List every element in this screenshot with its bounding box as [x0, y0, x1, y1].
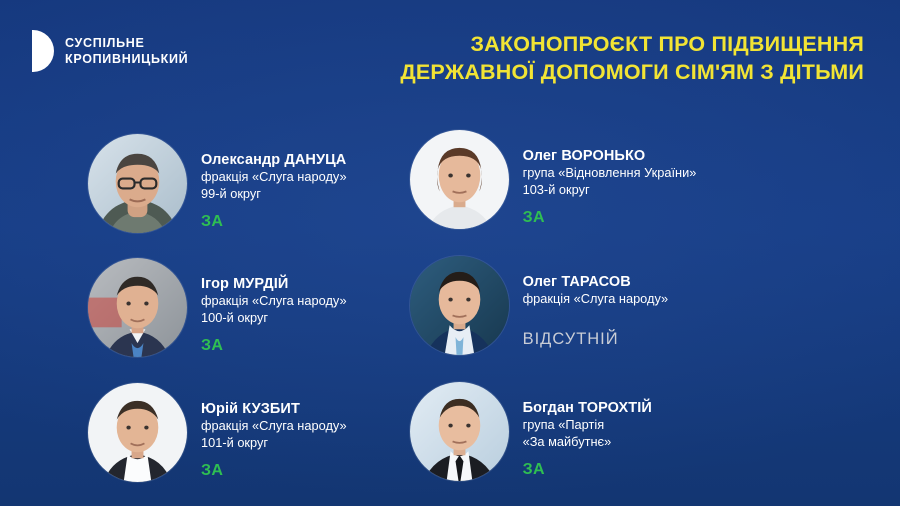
deputy-faction: група «Відновлення України»	[523, 165, 697, 182]
vote-status: ЗА	[523, 461, 652, 479]
deputy-district: 99-й округ	[201, 186, 347, 203]
vote-status: ЗА	[201, 213, 347, 231]
deputy-name: Ігор МУРДІЙ	[201, 276, 347, 293]
brand-logo: СУСПІЛЬНЕ КРОПИВНИЦЬКИЙ	[32, 30, 188, 72]
deputy-info: Богдан ТОРОХТІЙ група «Партія «За майбут…	[509, 382, 652, 479]
half-disc-logo-icon	[32, 30, 54, 72]
deputy-faction: група «Партія	[523, 417, 652, 434]
vote-status: ЗА	[201, 337, 347, 355]
avatar	[88, 134, 187, 233]
title-line-1: ЗАКОНОПРОЄКТ ПРО ПІДВИЩЕННЯ	[324, 31, 864, 59]
deputy-card: Олександр ДАНУЦА фракція «Слуга народу» …	[88, 134, 347, 248]
avatar	[88, 258, 187, 357]
deputy-card: Богдан ТОРОХТІЙ група «Партія «За майбут…	[410, 382, 900, 496]
deputy-district: 103-й округ	[523, 182, 697, 199]
deputy-name: Юрій КУЗБИТ	[201, 401, 347, 418]
brand-line-2: КРОПИВНИЦЬКИЙ	[65, 51, 188, 67]
page-title: ЗАКОНОПРОЄКТ ПРО ПІДВИЩЕННЯ ДЕРЖАВНОЇ ДО…	[324, 31, 864, 86]
vote-status: ВІДСУТНІЙ	[523, 330, 669, 349]
avatar	[410, 130, 509, 229]
avatar	[410, 382, 509, 481]
deputy-faction: фракція «Слуга народу»	[201, 169, 347, 186]
deputy-name: Олег ТАРАСОВ	[523, 274, 669, 291]
deputy-card: Олег ВОРОНЬКО група «Відновлення України…	[410, 130, 900, 244]
deputy-name: Олег ВОРОНЬКО	[523, 148, 697, 165]
deputy-info: Олег ТАРАСОВ фракція «Слуга народу» ВІДС…	[509, 256, 669, 349]
deputy-faction: фракція «Слуга народу»	[201, 418, 347, 435]
deputy-card: Юрій КУЗБИТ фракція «Слуга народу» 101-й…	[88, 383, 347, 497]
deputy-faction: фракція «Слуга народу»	[201, 293, 347, 310]
deputies-grid: Олександр ДАНУЦА фракція «Слуга народу» …	[0, 122, 900, 497]
deputy-name: Олександр ДАНУЦА	[201, 152, 347, 169]
brand-line-1: СУСПІЛЬНЕ	[65, 35, 188, 51]
deputy-card: Ігор МУРДІЙ фракція «Слуга народу» 100-й…	[88, 258, 347, 372]
deputy-district: 101-й округ	[201, 435, 347, 452]
infographic-slide: СУСПІЛЬНЕ КРОПИВНИЦЬКИЙ ЗАКОНОПРОЄКТ ПРО…	[0, 0, 900, 506]
deputy-info: Олександр ДАНУЦА фракція «Слуга народу» …	[187, 134, 347, 231]
deputy-info: Олег ВОРОНЬКО група «Відновлення України…	[509, 130, 697, 227]
vote-status: ЗА	[201, 462, 347, 480]
brand-name: СУСПІЛЬНЕ КРОПИВНИЦЬКИЙ	[65, 35, 188, 67]
deputy-info: Юрій КУЗБИТ фракція «Слуга народу» 101-й…	[187, 383, 347, 480]
deputy-card: Олег ТАРАСОВ фракція «Слуга народу» ВІДС…	[410, 256, 900, 370]
deputy-faction: фракція «Слуга народу»	[523, 291, 669, 308]
avatar	[410, 256, 509, 355]
deputy-faction-line-2: «За майбутнє»	[523, 434, 652, 451]
title-line-2: ДЕРЖАВНОЇ ДОПОМОГИ СІМ'ЯМ З ДІТЬМИ	[324, 59, 864, 87]
deputy-name: Богдан ТОРОХТІЙ	[523, 400, 652, 417]
deputy-district: 100-й округ	[201, 310, 347, 327]
deputy-info: Ігор МУРДІЙ фракція «Слуга народу» 100-й…	[187, 258, 347, 355]
avatar	[88, 383, 187, 482]
vote-status: ЗА	[523, 209, 697, 227]
